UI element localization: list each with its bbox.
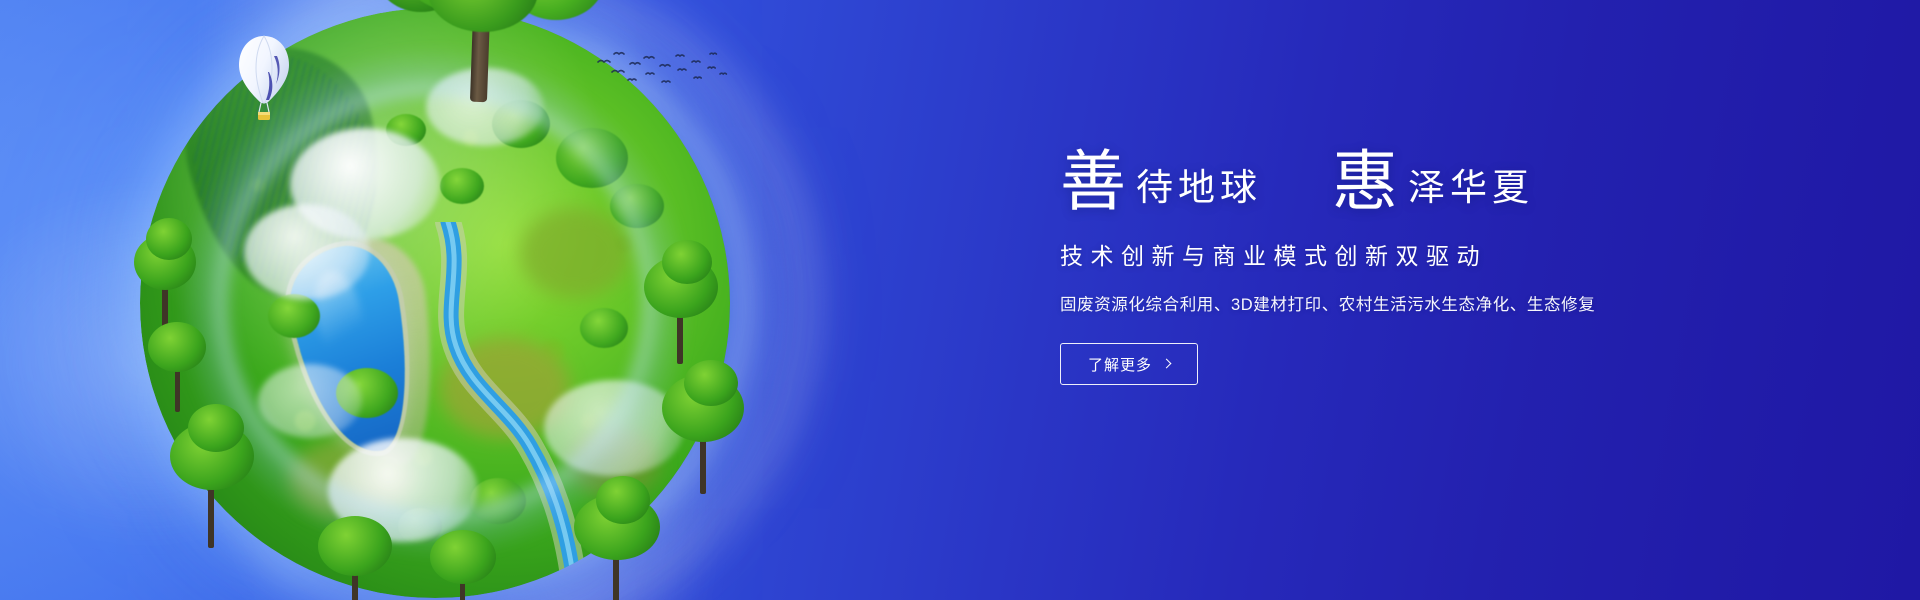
headline-big-char-1: 善: [1060, 150, 1126, 213]
bush: [386, 114, 426, 146]
headline-small-text-1: 待地球: [1126, 169, 1262, 206]
learn-more-button[interactable]: 了解更多: [1060, 343, 1198, 385]
learn-more-label: 了解更多: [1088, 354, 1152, 375]
hero-copy: 善 待地球 惠 泽华夏 技术创新与商业模式创新双驱动 固废资源化综合利用、3D建…: [1060, 146, 1760, 385]
chevron-right-icon: [1162, 358, 1172, 368]
terrain-patch: [520, 208, 630, 298]
bush: [268, 294, 320, 338]
hero-description: 固废资源化综合利用、3D建材打印、农村生活污水生态净化、生态修复: [1060, 291, 1760, 315]
terrain-patch: [440, 338, 570, 438]
bush: [398, 508, 442, 544]
bush: [336, 368, 398, 418]
headline-big-char-2: 惠: [1332, 150, 1398, 213]
bush: [440, 168, 484, 204]
bush: [610, 184, 664, 228]
page-title: 善 待地球 惠 泽华夏: [1060, 146, 1760, 209]
bush: [556, 128, 628, 188]
hero-subtitle: 技术创新与商业模式创新双驱动: [1060, 237, 1760, 271]
bush: [470, 478, 526, 524]
globe-icon: [140, 8, 730, 598]
tiny-planet-artwork: [140, 8, 740, 600]
bush: [492, 100, 550, 148]
terrain-patch: [570, 428, 660, 498]
bush: [580, 308, 628, 348]
headline-small-text-2: 泽华夏: [1398, 169, 1534, 206]
hero-banner: 善 待地球 惠 泽华夏 技术创新与商业模式创新双驱动 固废资源化综合利用、3D建…: [0, 0, 1920, 600]
